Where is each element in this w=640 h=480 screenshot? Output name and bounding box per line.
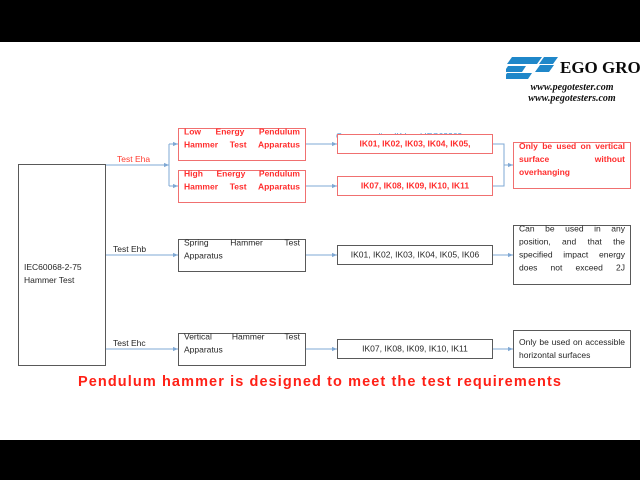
root-line-1: IEC60068-2-75 xyxy=(24,262,82,272)
apparatus-high-energy-pendulum[interactable]: High Energy Pendulum Hammer Test Apparat… xyxy=(178,170,306,203)
pego-group-logo: EGO GROUP www.pegotester.com www.pegotes… xyxy=(504,56,640,114)
application-vertical-label: Only be used on accessible horizontal su… xyxy=(519,336,625,362)
logo-brand-text: EGO GROUP xyxy=(560,58,640,78)
application-pendulum-label: Only be used on vertical surface without… xyxy=(519,140,625,192)
slide-content-area: EGO GROUP www.pegotester.com www.pegotes… xyxy=(0,42,640,440)
apparatus-low-energy-label: Low Energy Pendulum Hammer Test Apparatu… xyxy=(184,125,300,164)
edge-label-test-eha: Test Eha xyxy=(117,154,150,164)
apparatus-spring-label: Spring Hammer Test Apparatus xyxy=(184,236,300,275)
ik-levels-vertical[interactable]: IK07, IK08, IK09, IK10, IK11 xyxy=(337,339,493,359)
ik-levels-spring[interactable]: IK01, IK02, IK03, IK04, IK05, IK06 xyxy=(337,245,493,265)
slide-caption: Pendulum hammer is designed to meet the … xyxy=(0,374,640,390)
apparatus-vertical-hammer[interactable]: Vertical Hammer Test Apparatus xyxy=(178,333,306,366)
logo-website-secondary[interactable]: www.pegotesters.com xyxy=(504,93,640,104)
apparatus-low-energy-pendulum[interactable]: Low Energy Pendulum Hammer Test Apparatu… xyxy=(178,128,306,161)
ik-levels-vertical-label: IK07, IK08, IK09, IK10, IK11 xyxy=(343,343,487,356)
application-spring[interactable]: Can be used in any position, and that th… xyxy=(513,225,631,285)
logo-website-primary[interactable]: www.pegotester.com xyxy=(504,82,640,93)
edge-label-test-ehc: Test Ehc xyxy=(113,338,146,348)
slide-canvas: EGO GROUP www.pegotester.com www.pegotes… xyxy=(0,0,640,480)
ik-levels-spring-label: IK01, IK02, IK03, IK04, IK05, IK06 xyxy=(343,249,487,262)
ik-levels-low-energy[interactable]: IK01, IK02, IK03, IK04, IK05, xyxy=(337,134,493,154)
ik-levels-high-energy-label: IK07, IK08, IK09, IK10, IK11 xyxy=(343,180,487,193)
root-node-text: IEC60068-2-75 Hammer Test xyxy=(24,261,100,287)
application-spring-label: Can be used in any position, and that th… xyxy=(519,223,625,288)
application-vertical[interactable]: Only be used on accessible horizontal su… xyxy=(513,330,631,368)
edge-label-test-ehb: Test Ehb xyxy=(113,244,146,254)
apparatus-vertical-label: Vertical Hammer Test Apparatus xyxy=(184,330,300,369)
apparatus-spring-hammer[interactable]: Spring Hammer Test Apparatus xyxy=(178,239,306,272)
ik-levels-low-energy-label: IK01, IK02, IK03, IK04, IK05, xyxy=(343,138,487,151)
pego-p-logo-icon xyxy=(506,56,560,80)
apparatus-high-energy-label: High Energy Pendulum Hammer Test Apparat… xyxy=(184,167,300,206)
ik-levels-high-energy[interactable]: IK07, IK08, IK09, IK10, IK11 xyxy=(337,176,493,196)
root-line-2: Hammer Test xyxy=(24,275,74,285)
root-node-hammer-test[interactable]: IEC60068-2-75 Hammer Test xyxy=(18,164,106,366)
application-pendulum[interactable]: Only be used on vertical surface without… xyxy=(513,142,631,189)
